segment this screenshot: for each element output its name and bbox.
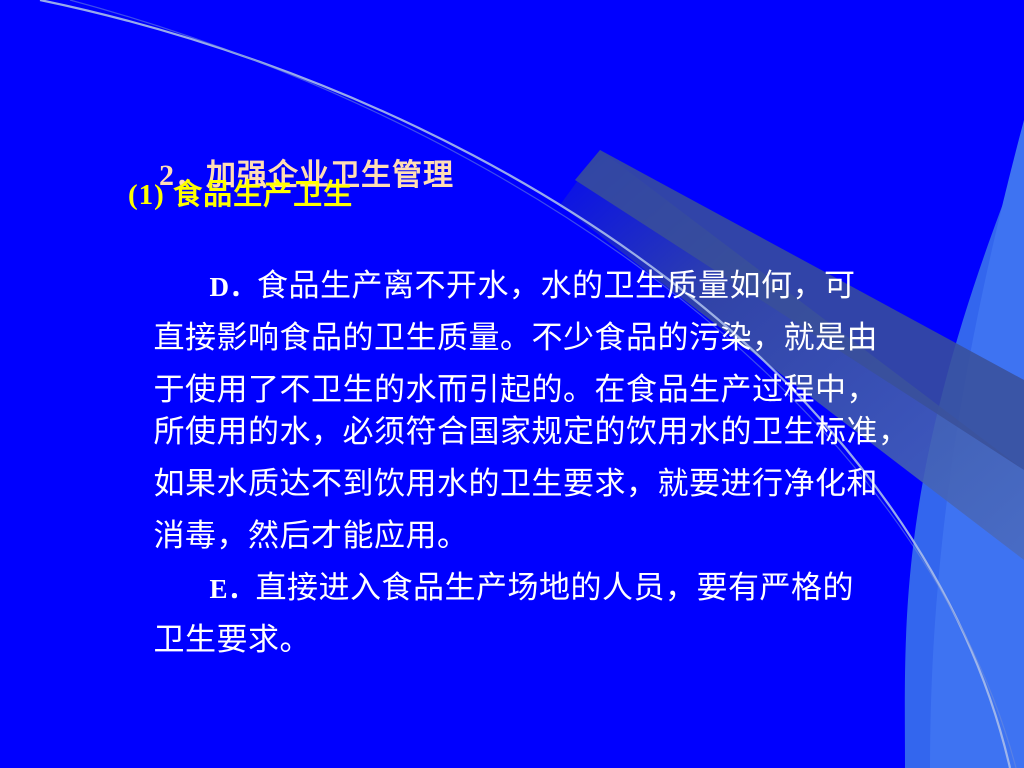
slide-text-content: 2．加强企业卫生管理 (1) 食品生产卫生 D．食品生产离不开水，水的卫生质量如…: [0, 0, 1024, 768]
body-line: 卫生要求。: [104, 593, 311, 686]
presentation-slide: 2．加强企业卫生管理 (1) 食品生产卫生 D．食品生产离不开水，水的卫生质量如…: [0, 0, 1024, 768]
body-line-text: 卫生要求。: [154, 622, 312, 657]
slide-subtitle: (1) 食品生产卫生: [128, 181, 353, 210]
body-line-text: 直接进入食品生产场地的人员，要有严格的: [256, 570, 855, 605]
